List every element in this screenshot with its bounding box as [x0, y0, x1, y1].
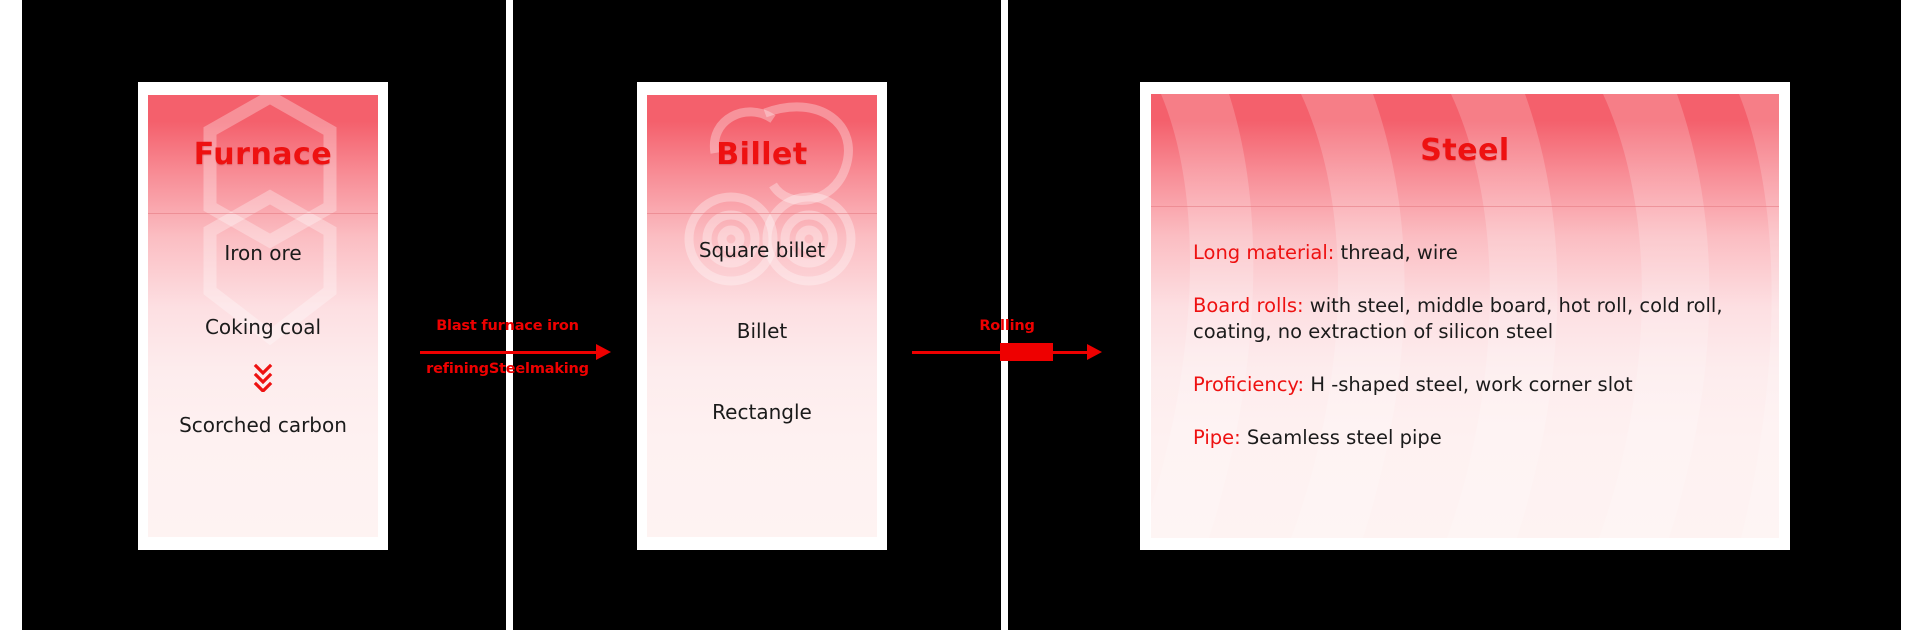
bullet-text: Seamless steel pipe [1241, 426, 1442, 449]
bullet-label: Board rolls: [1193, 294, 1304, 317]
arrow-head-icon [596, 344, 611, 360]
card-title: Furnace [194, 137, 332, 172]
card-billet-body: Square billet Billet Rectangle [647, 213, 877, 537]
card-furnace-inner: Furnace Iron ore Coking coal [148, 95, 378, 537]
bullet-text: thread, wire [1334, 241, 1457, 264]
card-billet-inner: Billet Square billet Billet Rectangle [647, 95, 877, 537]
double-chevron-down-icon [252, 362, 274, 392]
arrow-roller-block [1000, 343, 1053, 361]
bullet-label: Pipe: [1193, 426, 1241, 449]
card-steel-header: Steel [1151, 94, 1779, 206]
slide-divider-2 [1001, 0, 1008, 630]
bullet-pipe: Pipe: Seamless steel pipe [1193, 425, 1737, 451]
card-line-coking-coal: Coking coal [205, 315, 321, 339]
bullet-board-rolls: Board rolls: with steel, middle board, h… [1193, 293, 1737, 345]
card-steel-inner: Steel Long material: thread, wire Board … [1151, 94, 1779, 538]
bullet-text: H -shaped steel, work corner slot [1304, 373, 1633, 396]
card-title: Steel [1420, 133, 1509, 168]
card-line-square-billet: Square billet [699, 238, 825, 262]
bullet-proficiency: Proficiency: H -shaped steel, work corne… [1193, 372, 1737, 398]
arrow-rolling: Rolling [912, 318, 1102, 384]
card-furnace-body: Iron ore Coking coal Scorched carbon [148, 213, 378, 537]
card-steel[interactable]: Steel Long material: thread, wire Board … [1140, 82, 1790, 550]
card-billet[interactable]: Billet Square billet Billet Rectangle [637, 82, 887, 550]
card-furnace-header: Furnace [148, 95, 378, 213]
bullet-label: Proficiency: [1193, 373, 1304, 396]
arrow-label-top: Rolling [937, 318, 1077, 334]
arrow-label-top: Blast furnace iron [420, 318, 595, 334]
bullet-label: Long material: [1193, 241, 1334, 264]
card-line-iron-ore: Iron ore [224, 241, 301, 265]
card-line-billet: Billet [737, 319, 788, 343]
card-steel-body: Long material: thread, wire Board rolls:… [1151, 206, 1779, 538]
card-title: Billet [716, 137, 807, 172]
card-furnace[interactable]: Furnace Iron ore Coking coal [138, 82, 388, 550]
arrow-label-bottom: refiningSteelmaking [420, 361, 595, 377]
page-edge-left [0, 0, 22, 630]
card-billet-header: Billet [647, 95, 877, 213]
bullet-long-material: Long material: thread, wire [1193, 240, 1737, 266]
arrow-shaft [420, 351, 600, 354]
slide-canvas: Furnace Iron ore Coking coal [0, 0, 1920, 630]
slide-divider-1 [506, 0, 513, 630]
arrow-head-icon [1087, 344, 1102, 360]
page-edge-right [1901, 0, 1920, 630]
arrow-smelting: Blast furnace iron refiningSteelmaking [420, 318, 610, 384]
card-line-scorched-carbon: Scorched carbon [179, 413, 347, 437]
card-line-rectangle: Rectangle [712, 400, 812, 424]
